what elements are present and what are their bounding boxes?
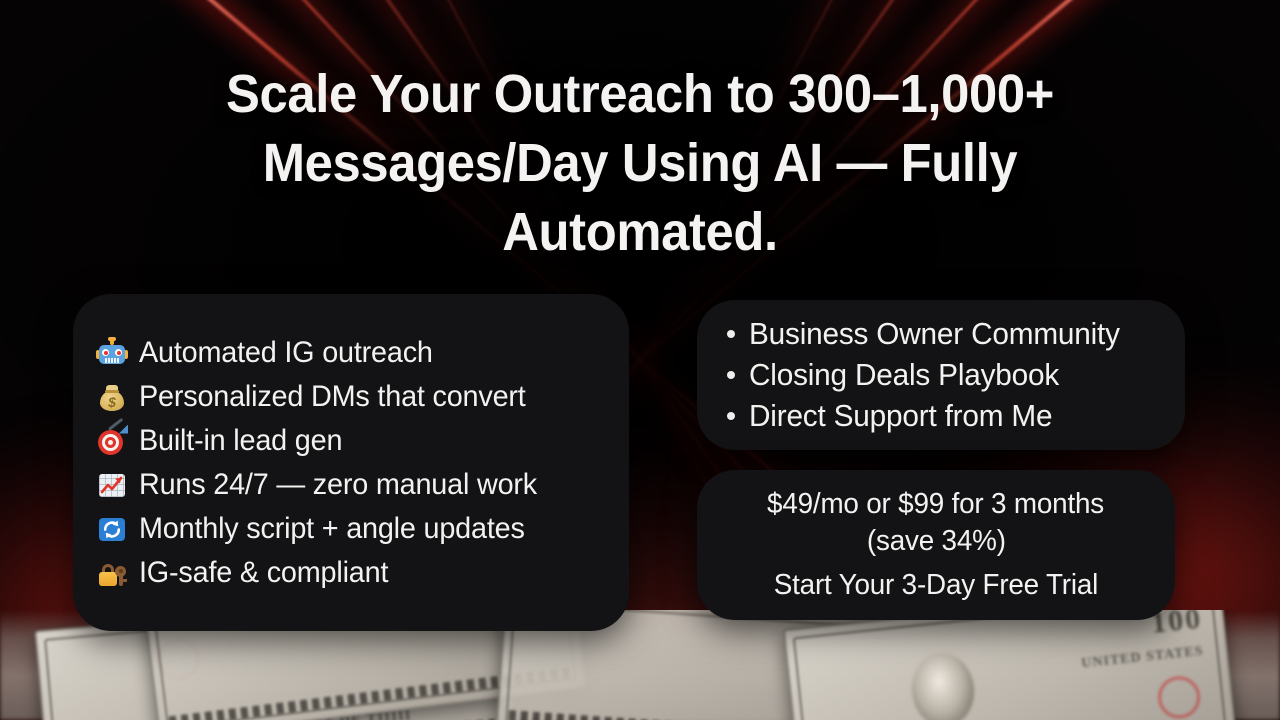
feature-item: $ Personalized DMs that convert	[97, 375, 603, 418]
lock-with-key-emoji	[97, 558, 127, 588]
page-headline: Scale Your Outreach to 300–1,000+ Messag…	[38, 60, 1241, 267]
price-line: $49/mo or $99 for 3 months	[767, 486, 1104, 523]
feature-label: Built-in lead gen	[139, 424, 342, 458]
features-card: Automated IG outreach $ Personalized DMs…	[73, 294, 629, 631]
bullet-icon	[727, 371, 735, 379]
feature-label: Monthly script + angle updates	[139, 512, 525, 546]
feature-item: Monthly script + angle updates	[97, 507, 603, 550]
banknote-denomination: 100	[1150, 610, 1204, 641]
feature-item: Runs 24/7 — zero manual work	[97, 463, 603, 506]
feature-label: IG-safe & compliant	[139, 556, 388, 590]
feature-item: IG-safe & compliant	[97, 551, 603, 594]
bonus-label: Direct Support from Me	[749, 398, 1052, 434]
feature-item: Automated IG outreach	[97, 331, 603, 374]
robot-emoji	[97, 338, 127, 368]
bonus-item: Business Owner Community	[715, 316, 1165, 352]
pricing-card: $49/mo or $99 for 3 months (save 34%) St…	[697, 470, 1175, 620]
bonus-item: Direct Support from Me	[715, 398, 1165, 434]
money-bag-emoji: $	[97, 382, 127, 412]
feature-label: Personalized DMs that convert	[139, 380, 526, 414]
chart-increasing-emoji	[97, 470, 127, 500]
bullet-icon	[727, 330, 735, 338]
free-trial-cta[interactable]: Start Your 3-Day Free Trial	[774, 567, 1098, 604]
savings-line: (save 34%)	[867, 523, 1006, 560]
feature-label: Runs 24/7 — zero manual work	[139, 468, 537, 502]
bonus-label: Closing Deals Playbook	[749, 357, 1059, 393]
promo-graphic: OOICOLUFDUVC ETHIE SPBFOT DE TIIIII 100 …	[0, 0, 1280, 720]
dart-target-emoji	[97, 426, 127, 456]
bullet-icon	[727, 412, 735, 420]
feature-item: Built-in lead gen	[97, 419, 603, 462]
bonus-card: Business Owner Community Closing Deals P…	[697, 300, 1185, 450]
bonus-label: Business Owner Community	[749, 316, 1120, 352]
sync-arrows-emoji	[97, 514, 127, 544]
bonus-item: Closing Deals Playbook	[715, 357, 1165, 393]
banknote-front-hundred: 100 UNITED STATES	[783, 610, 1237, 720]
feature-label: Automated IG outreach	[139, 336, 433, 370]
